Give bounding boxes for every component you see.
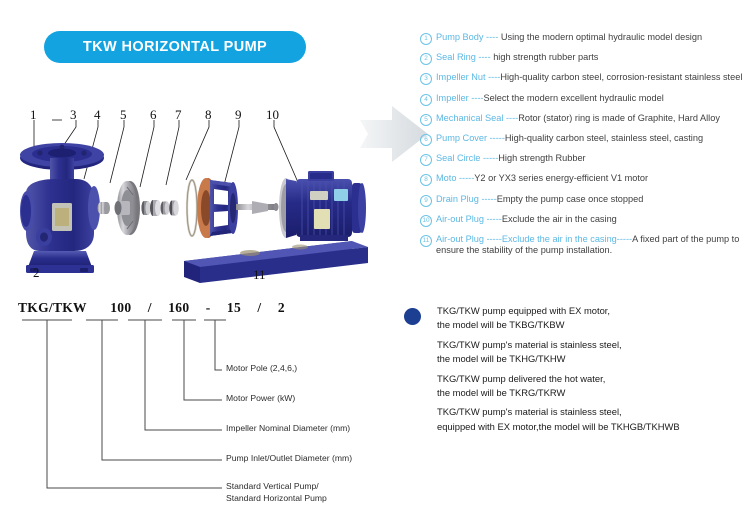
legend-item: 6 Pump Cover -----High-quality carbon st… xyxy=(420,133,754,146)
legend-number-icon: 10 xyxy=(420,215,432,227)
callout-number-6: 6 xyxy=(150,107,157,123)
callout-number-11: 11 xyxy=(253,267,266,283)
legend-text: Moto -----Y2 or YX3 series energy-effici… xyxy=(436,173,754,185)
code-label-inlet-outlet: Pump Inlet/Outlet Diameter (mm) xyxy=(226,453,352,465)
note-line: TKG/TKW pump's material is stainless ste… xyxy=(437,339,754,350)
legend-item: 9 Drain Plug -----Empty the pump case on… xyxy=(420,194,754,207)
callout-number-3: 3 xyxy=(70,107,77,123)
legend-item: 10 Air-out Plug -----Exclude the air in … xyxy=(420,214,754,227)
page-title: TKW HORIZONTAL PUMP xyxy=(83,39,267,55)
code-label-standard-pump: Standard Vertical Pump/ Standard Horizon… xyxy=(226,481,327,504)
legend-text: Air-out Plug -----Exclude the air in the… xyxy=(436,214,754,226)
legend-text: Mechanical Seal ----Rotor (stator) ring … xyxy=(436,113,754,125)
legend-number-icon: 8 xyxy=(420,174,432,186)
legend-number-icon: 7 xyxy=(420,154,432,166)
legend-text: Pump Cover -----High-quality carbon stee… xyxy=(436,133,754,145)
legend-item: 4 Impeller ----Select the modern excelle… xyxy=(420,93,754,106)
legend-item: 8 Moto -----Y2 or YX3 series energy-effi… xyxy=(420,173,754,186)
legend-text: Pump Body ---- Using the modern optimal … xyxy=(436,32,754,44)
legend-item: 7 Seal Circle -----High strength Rubber xyxy=(420,153,754,166)
note-lines: TKG/TKW pump equipped with EX motor, the… xyxy=(437,305,754,432)
code-label-motor-power: Motor Power (kW) xyxy=(226,393,295,405)
note-line: the model will be TKHG/TKHW xyxy=(437,353,754,364)
legend-number-icon: 9 xyxy=(420,195,432,207)
legend-text: Impeller Nut ----High-quality carbon ste… xyxy=(436,72,754,84)
exploded-pump-diagram: 1 3 4 5 6 7 8 9 10 2 11 xyxy=(0,75,400,290)
note-line: TKG/TKW pump delivered the hot water, xyxy=(437,373,754,384)
legend-number-icon: 3 xyxy=(420,73,432,85)
legend-text: Drain Plug -----Empty the pump case once… xyxy=(436,194,754,206)
model-variant-notes: TKG/TKW pump equipped with EX motor, the… xyxy=(404,305,754,440)
note-line: equipped with EX motor,the model will be… xyxy=(437,421,754,432)
legend-text: Air-out Plug -----Exclude the air in the… xyxy=(436,234,754,257)
callout-number-2: 2 xyxy=(33,265,40,281)
callout-number-1: 1 xyxy=(30,107,37,123)
legend-number-icon: 5 xyxy=(420,114,432,126)
model-code-leader-lines: Motor Pole (2,4,6,) Motor Power (kW) Imp… xyxy=(0,312,400,500)
code-label-standard-pump-line2: Standard Horizontal Pump xyxy=(226,493,327,505)
legend-number-icon: 2 xyxy=(420,53,432,65)
legend-number-icon: 11 xyxy=(420,235,432,247)
code-label-impeller-dia: Impeller Nominal Diameter (mm) xyxy=(226,423,350,435)
note-line: TKG/TKW pump equipped with EX motor, xyxy=(437,305,754,316)
code-label-standard-pump-line1: Standard Vertical Pump/ xyxy=(226,481,327,493)
note-line: TKG/TKW pump's material is stainless ste… xyxy=(437,406,754,417)
title-banner: TKW HORIZONTAL PUMP xyxy=(44,31,306,63)
parts-legend-list: 1 Pump Body ---- Using the modern optima… xyxy=(420,32,754,264)
note-line: the model will be TKBG/TKBW xyxy=(437,319,754,330)
callout-number-5: 5 xyxy=(120,107,127,123)
legend-item: 2 Seal Ring ---- high strength rubber pa… xyxy=(420,52,754,65)
legend-item: 3 Impeller Nut ----High-quality carbon s… xyxy=(420,72,754,85)
callout-number-8: 8 xyxy=(205,107,212,123)
callout-number-9: 9 xyxy=(235,107,242,123)
legend-text: Seal Circle -----High strength Rubber xyxy=(436,153,754,165)
legend-text: Impeller ----Select the modern excellent… xyxy=(436,93,754,105)
legend-text: Seal Ring ---- high strength rubber part… xyxy=(436,52,754,64)
legend-item: 1 Pump Body ---- Using the modern optima… xyxy=(420,32,754,45)
pump-product-sheet: TKW HORIZONTAL PUMP xyxy=(0,0,756,500)
callout-number-4: 4 xyxy=(94,107,101,123)
callout-number-7: 7 xyxy=(175,107,182,123)
bullet-icon xyxy=(404,308,421,325)
legend-number-icon: 6 xyxy=(420,134,432,146)
note-line: the model will be TKRG/TKRW xyxy=(437,387,754,398)
callout-number-10: 10 xyxy=(266,107,279,123)
legend-item: 5 Mechanical Seal ----Rotor (stator) rin… xyxy=(420,113,754,126)
legend-number-icon: 4 xyxy=(420,94,432,106)
legend-item: 11 Air-out Plug -----Exclude the air in … xyxy=(420,234,754,257)
code-label-motor-pole: Motor Pole (2,4,6,) xyxy=(226,363,297,375)
legend-number-icon: 1 xyxy=(420,33,432,45)
